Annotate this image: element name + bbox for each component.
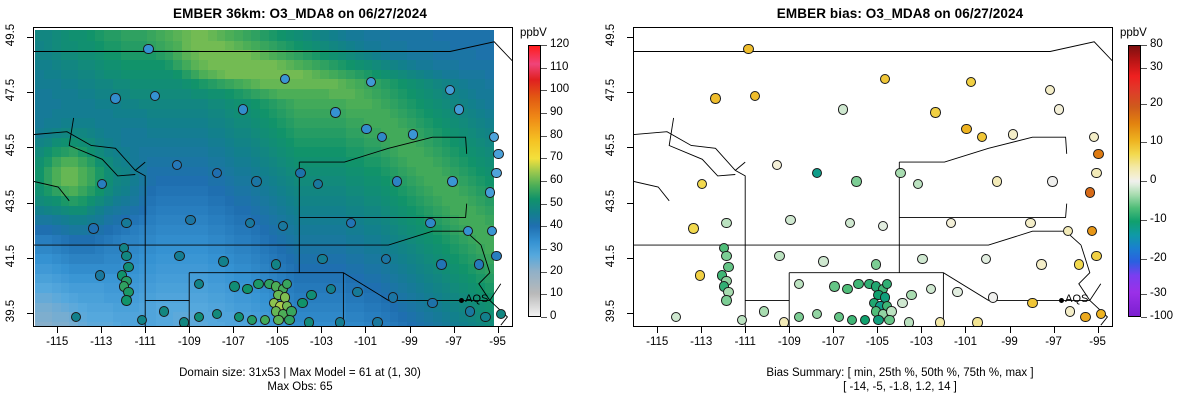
x-axis-tick — [965, 327, 966, 333]
observation-point[interactable] — [251, 176, 261, 186]
y-axis-tick — [27, 203, 33, 204]
colorbar-tick — [1141, 294, 1147, 295]
observation-point[interactable] — [425, 218, 435, 228]
colorbar-tick — [541, 249, 547, 250]
colorbar-title: ppbV — [520, 27, 547, 39]
map-plot-model[interactable]: AQS — [33, 27, 513, 327]
city-marker-dot — [459, 298, 464, 303]
x-axis-tick — [833, 327, 834, 333]
observation-point[interactable] — [388, 292, 398, 302]
caption-model-line1: Domain size: 31x53 | Max Model = 61 at (… — [0, 366, 600, 380]
observation-point[interactable] — [952, 287, 962, 297]
observation-point[interactable] — [847, 315, 857, 325]
observation-point[interactable] — [904, 317, 914, 326]
observation-point[interactable] — [366, 77, 376, 87]
map-plot-bias[interactable]: AQS — [633, 27, 1113, 327]
observation-point[interactable] — [121, 251, 131, 261]
observation-point[interactable] — [972, 317, 982, 326]
colorbar-tick-label: -30 — [1150, 287, 1167, 299]
y-axis-tick — [627, 92, 633, 93]
observation-point[interactable] — [1008, 129, 1018, 139]
observation-point[interactable] — [245, 218, 255, 228]
colorbar-tick — [1141, 220, 1147, 221]
x-axis-tick — [365, 327, 366, 333]
x-axis-tick-label: -113 — [679, 336, 723, 348]
y-axis-tick-label: 39.5 — [5, 293, 17, 329]
colorbar-tick — [541, 45, 547, 46]
observation-point[interactable] — [1025, 218, 1035, 228]
colorbar-tick-label: 120 — [550, 38, 569, 50]
observation-point[interactable] — [1085, 187, 1095, 197]
colorbar-tick-label: -100 — [1150, 310, 1173, 322]
colorbar-tick — [541, 113, 547, 114]
x-axis-tick — [877, 327, 878, 333]
observation-point[interactable] — [88, 223, 98, 233]
y-axis-tick-label: 49.5 — [5, 17, 17, 53]
observation-point[interactable] — [137, 315, 147, 325]
observation-point[interactable] — [818, 256, 828, 266]
observation-point[interactable] — [671, 312, 681, 322]
x-axis-tick-label: -115 — [635, 336, 679, 348]
observation-point[interactable] — [721, 295, 731, 305]
city-marker-label: AQS — [1065, 293, 1088, 305]
caption-model-line2: Max Obs: 65 — [0, 380, 600, 394]
colorbar-gradient — [528, 45, 541, 317]
observation-point[interactable] — [695, 270, 705, 280]
colorbar-tick — [541, 317, 547, 318]
x-axis-tick-label: -97 — [432, 336, 476, 348]
observation-point[interactable] — [1091, 251, 1101, 261]
colorbar-tick — [541, 204, 547, 205]
x-axis-tick-label: -111 — [123, 336, 167, 348]
y-axis-tick-label: 41.5 — [605, 238, 617, 274]
observation-point[interactable] — [454, 104, 464, 114]
colorbar-tick — [1141, 181, 1147, 182]
colorbar-tick — [541, 226, 547, 227]
x-axis-tick-label: -115 — [35, 336, 79, 348]
observation-point[interactable] — [871, 259, 881, 269]
observation-point[interactable] — [1047, 176, 1057, 186]
x-axis-tick-label: -103 — [299, 336, 343, 348]
y-axis-tick — [27, 92, 33, 93]
observation-point[interactable] — [121, 218, 131, 228]
observation-point[interactable] — [427, 298, 437, 308]
observation-point[interactable] — [284, 315, 294, 325]
observation-point[interactable] — [278, 221, 288, 231]
observation-point[interactable] — [297, 298, 307, 308]
observation-point[interactable] — [845, 218, 855, 228]
panel-model: EMBER 36km: O3_MDA8 on 06/27/2024 AQS -1… — [0, 0, 600, 409]
y-axis-tick — [627, 258, 633, 259]
colorbar-title: ppbV — [1120, 27, 1147, 39]
observation-point[interactable] — [851, 176, 861, 186]
observation-point[interactable] — [121, 295, 131, 305]
observation-point[interactable] — [335, 317, 345, 326]
observation-point[interactable] — [688, 223, 698, 233]
colorbar-tick-label: 110 — [550, 61, 568, 73]
colorbar-tick — [1141, 317, 1147, 318]
observation-point[interactable] — [935, 317, 945, 326]
observation-point[interactable] — [295, 168, 305, 178]
city-marker-dot — [1059, 298, 1064, 303]
y-axis-tick — [627, 203, 633, 204]
y-axis-tick — [627, 313, 633, 314]
observation-point[interactable] — [774, 251, 784, 261]
x-axis-tick-label: -95 — [1076, 336, 1120, 348]
y-axis-tick-label: 39.5 — [605, 293, 617, 329]
x-axis-tick — [189, 327, 190, 333]
colorbar-tick-label: 50 — [550, 197, 563, 209]
observation-point[interactable] — [1091, 168, 1101, 178]
x-axis-tick — [498, 327, 499, 333]
observation-point[interactable] — [485, 187, 495, 197]
city-marker-label: AQS — [465, 293, 488, 305]
colorbar-tick-label: 60 — [550, 174, 563, 186]
x-axis-tick — [321, 327, 322, 333]
observation-point[interactable] — [317, 254, 327, 264]
colorbar-tick — [541, 68, 547, 69]
observation-point[interactable] — [1093, 149, 1103, 159]
x-axis-tick-label: -99 — [988, 336, 1032, 348]
caption-bias-line1: Bias Summary: [ min, 25th %, 50th %, 75t… — [600, 366, 1200, 380]
x-axis-tick — [454, 327, 455, 333]
colorbar-tick-label: 80 — [550, 129, 563, 141]
observation-point[interactable] — [273, 315, 283, 325]
y-axis-tick — [27, 258, 33, 259]
y-axis-tick-label: 45.5 — [5, 127, 17, 163]
observation-point[interactable] — [306, 290, 316, 300]
y-axis-tick-label: 47.5 — [5, 72, 17, 108]
observation-point[interactable] — [480, 312, 490, 322]
x-axis-tick — [701, 327, 702, 333]
observation-point[interactable] — [966, 77, 976, 87]
x-axis-tick-label: -109 — [167, 336, 211, 348]
observation-point[interactable] — [1080, 312, 1090, 322]
observation-point[interactable] — [930, 107, 940, 117]
observation-point[interactable] — [185, 215, 195, 225]
observation-point[interactable] — [1065, 306, 1075, 316]
colorbar-tick — [541, 158, 547, 159]
colorbar-tick-label: 90 — [550, 106, 563, 118]
observation-point[interactable] — [238, 104, 248, 114]
colorbar-tick — [541, 272, 547, 273]
x-axis-tick — [410, 327, 411, 333]
x-axis-tick — [921, 327, 922, 333]
observation-point[interactable] — [474, 259, 484, 269]
observation-point[interactable] — [853, 279, 863, 289]
observation-point[interactable] — [229, 281, 239, 291]
panel-bias: EMBER bias: O3_MDA8 on 06/27/2024 AQS -1… — [600, 0, 1200, 409]
observation-point[interactable] — [447, 176, 457, 186]
observation-point[interactable] — [838, 104, 848, 114]
x-axis-tick-label: -103 — [899, 336, 943, 348]
caption-bias-line2: [ -14, -5, -1.8, 1.2, 14 ] — [600, 380, 1200, 394]
figure-root: EMBER 36km: O3_MDA8 on 06/27/2024 AQS -1… — [0, 0, 1200, 409]
observation-point[interactable] — [491, 251, 501, 261]
observation-point[interactable] — [304, 317, 314, 326]
x-axis-tick — [145, 327, 146, 333]
y-axis-tick — [27, 147, 33, 148]
x-axis-tick — [277, 327, 278, 333]
observation-point[interactable] — [179, 317, 189, 326]
observation-point[interactable] — [878, 221, 888, 231]
x-axis-tick-label: -105 — [855, 336, 899, 348]
observation-point[interactable] — [159, 306, 169, 316]
colorbar-tick — [541, 181, 547, 182]
x-axis-tick-label: -101 — [343, 336, 387, 348]
colorbar-tick — [541, 294, 547, 295]
observation-point[interactable] — [174, 251, 184, 261]
colorbar-tick-label: 0 — [550, 310, 556, 322]
observation-point[interactable] — [361, 124, 371, 134]
y-axis-tick-label: 45.5 — [605, 127, 617, 163]
observation-point[interactable] — [1054, 104, 1064, 114]
observation-point[interactable] — [917, 254, 927, 264]
colorbar-tick — [1141, 68, 1147, 69]
panel-title-bias: EMBER bias: O3_MDA8 on 06/27/2024 — [600, 6, 1200, 21]
y-axis-tick — [627, 37, 633, 38]
colorbar-tick-label: 30 — [1150, 61, 1163, 73]
y-axis-tick — [27, 313, 33, 314]
observation-point[interactable] — [992, 176, 1002, 186]
colorbar-tick-label: 100 — [550, 83, 569, 95]
observation-point[interactable] — [743, 44, 753, 54]
colorbar-tick — [1141, 142, 1147, 143]
observation-point[interactable] — [408, 129, 418, 139]
observation-point[interactable] — [721, 251, 731, 261]
observation-point[interactable] — [1036, 259, 1046, 269]
colorbar-tick-label: -20 — [1150, 252, 1167, 264]
observation-point[interactable] — [884, 315, 894, 325]
x-axis-tick — [745, 327, 746, 333]
x-axis-tick — [1098, 327, 1099, 333]
observation-point[interactable] — [253, 279, 263, 289]
observation-point[interactable] — [372, 317, 382, 326]
colorbar-tick-label: 30 — [550, 242, 563, 254]
observation-point[interactable] — [906, 290, 916, 300]
observation-point[interactable] — [873, 315, 883, 325]
y-axis-tick-label: 47.5 — [605, 72, 617, 108]
observation-point[interactable] — [759, 306, 769, 316]
observation-point[interactable] — [1027, 298, 1037, 308]
observation-point[interactable] — [143, 44, 153, 54]
x-axis-tick-label: -97 — [1032, 336, 1076, 348]
observation-point[interactable] — [491, 168, 501, 178]
y-axis-tick — [627, 147, 633, 148]
y-axis-tick — [27, 37, 33, 38]
observation-point[interactable] — [895, 168, 905, 178]
observation-point[interactable] — [834, 312, 844, 322]
x-axis-tick — [1010, 327, 1011, 333]
colorbar-tick-label: 20 — [1150, 97, 1163, 109]
observation-point[interactable] — [95, 270, 105, 280]
observation-point[interactable] — [110, 93, 120, 103]
x-axis-tick — [789, 327, 790, 333]
observation-point[interactable] — [465, 306, 475, 316]
observation-point[interactable] — [988, 292, 998, 302]
x-axis-tick-label: -105 — [255, 336, 299, 348]
observation-point[interactable] — [710, 93, 720, 103]
observation-point[interactable] — [352, 287, 362, 297]
x-axis-tick-label: -99 — [388, 336, 432, 348]
y-axis-tick-label: 43.5 — [605, 183, 617, 219]
colorbar-tick-label: 10 — [550, 287, 563, 299]
x-axis-tick-label: -107 — [211, 336, 255, 348]
colorbar-tick-label: 80 — [1150, 38, 1163, 50]
x-axis-tick-label: -109 — [767, 336, 811, 348]
x-axis-tick-label: -101 — [943, 336, 987, 348]
observation-point[interactable] — [779, 317, 789, 326]
y-axis-tick-label: 49.5 — [605, 17, 617, 53]
colorbar-tick — [541, 136, 547, 137]
colorbar-tick-label: 70 — [550, 151, 563, 163]
x-axis-tick-label: -107 — [811, 336, 855, 348]
x-axis-tick-label: -113 — [79, 336, 123, 348]
colorbar-tick-label: 10 — [1150, 135, 1163, 147]
colorbar-tick-label: -10 — [1150, 213, 1167, 225]
observation-point[interactable] — [1074, 259, 1084, 269]
x-axis-tick-label: -95 — [476, 336, 520, 348]
colorbar-tick — [1141, 259, 1147, 260]
observation-point[interactable] — [392, 176, 402, 186]
x-axis-tick — [657, 327, 658, 333]
observation-point[interactable] — [436, 259, 446, 269]
observation-point[interactable] — [330, 107, 340, 117]
x-axis-tick-label: -111 — [723, 336, 767, 348]
colorbar-tick — [1141, 104, 1147, 105]
panel-title-model: EMBER 36km: O3_MDA8 on 06/27/2024 — [0, 6, 600, 21]
observation-point[interactable] — [829, 281, 839, 291]
observation-point[interactable] — [71, 312, 81, 322]
colorbar-tick-label: 20 — [550, 265, 563, 277]
observation-point[interactable] — [785, 215, 795, 225]
x-axis-tick — [233, 327, 234, 333]
x-axis-tick — [101, 327, 102, 333]
observation-point[interactable] — [897, 298, 907, 308]
colorbar-tick — [541, 90, 547, 91]
observation-point[interactable] — [218, 256, 228, 266]
observation-point[interactable] — [737, 315, 747, 325]
x-axis-tick — [1054, 327, 1055, 333]
y-axis-tick-label: 43.5 — [5, 183, 17, 219]
observation-point[interactable] — [271, 259, 281, 269]
colorbar-tick-label: 40 — [550, 219, 563, 231]
observation-point[interactable] — [493, 149, 503, 159]
observation-point[interactable] — [721, 218, 731, 228]
colorbar-tick-label: 0 — [1150, 174, 1156, 186]
y-axis-tick-label: 41.5 — [5, 238, 17, 274]
colorbar-tick — [1141, 45, 1147, 46]
observation-point[interactable] — [961, 124, 971, 134]
x-axis-tick — [57, 327, 58, 333]
observation-point[interactable] — [247, 315, 257, 325]
colorbar-gradient — [1128, 45, 1141, 317]
observation-point[interactable] — [234, 312, 244, 322]
